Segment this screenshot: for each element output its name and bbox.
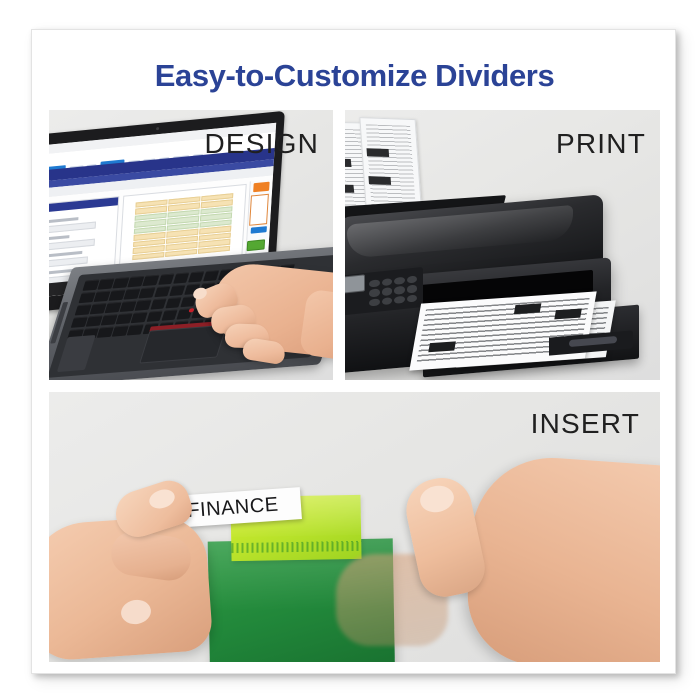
keyboard-key — [127, 324, 144, 336]
printer-button — [407, 294, 418, 302]
laptop-illustration — [49, 124, 333, 380]
printer-button — [407, 275, 418, 283]
product-card: Easy-to-Customize Dividers — [31, 29, 676, 674]
printer-button — [394, 277, 405, 285]
field-label — [49, 235, 69, 241]
keyboard-key — [161, 309, 178, 321]
product-image-canvas: Easy-to-Customize Dividers — [0, 0, 700, 700]
printed-tab-mark — [554, 308, 582, 319]
printed-tab-mark — [514, 303, 542, 314]
paper-tab-mark — [368, 176, 391, 185]
printer-button — [382, 278, 393, 286]
keyboard-key — [154, 286, 171, 298]
printed-tab-mark — [428, 341, 456, 352]
printed-sheet — [409, 291, 596, 370]
panel-label-insert: INSERT — [531, 408, 640, 440]
panel-insert: FINANCE INSERT — [49, 392, 660, 662]
lid-gloss-highlight — [347, 205, 573, 259]
rail-apply-button — [247, 239, 266, 251]
printer-button — [369, 279, 380, 287]
printer-illustration — [345, 128, 660, 380]
keyboard-key — [146, 310, 163, 322]
field-input — [49, 239, 95, 251]
paper-tab-mark — [366, 148, 389, 157]
options-panel-header — [49, 197, 118, 213]
tab-stitched-seam — [231, 541, 361, 553]
keyboard-key — [158, 274, 175, 286]
template-sheet — [132, 193, 233, 260]
hand-holding-label — [49, 472, 239, 662]
keyboard-key — [131, 312, 148, 324]
panel-label-print: PRINT — [556, 128, 646, 160]
printer-button — [369, 289, 380, 297]
palm-rest — [57, 335, 96, 372]
keyboard-key — [143, 275, 160, 287]
printer-button — [382, 297, 393, 305]
printer-button — [407, 285, 418, 293]
printer-lcd-screen — [345, 274, 365, 294]
webcam-icon — [156, 127, 159, 130]
panel-print: PRINT — [345, 110, 660, 380]
rail-preview-card — [249, 194, 269, 226]
hand-holding-divider — [406, 436, 660, 662]
right-hand-palm — [463, 453, 660, 662]
page-title: Easy-to-Customize Dividers — [32, 58, 677, 94]
printer-button — [394, 295, 405, 303]
paper-tab-mark — [345, 159, 352, 167]
rail-accent-chip — [253, 182, 269, 193]
printer-button — [382, 287, 393, 295]
keyboard-key — [135, 299, 152, 311]
keyboard-key — [165, 297, 182, 309]
keyboard-key — [169, 285, 186, 297]
printer-button — [369, 298, 380, 306]
paper-printed-lines — [366, 124, 416, 213]
hand-using-laptop — [187, 262, 333, 380]
printer-button — [394, 286, 405, 294]
panel-label-design: DESIGN — [204, 128, 319, 160]
keyboard-key — [139, 287, 156, 299]
printer-button-pad — [369, 275, 417, 306]
field-label — [49, 217, 78, 223]
paper-tab-mark — [345, 184, 354, 192]
panel-design: DESIGN — [49, 110, 333, 380]
keyboard-key — [150, 298, 167, 310]
field-input — [49, 221, 96, 233]
